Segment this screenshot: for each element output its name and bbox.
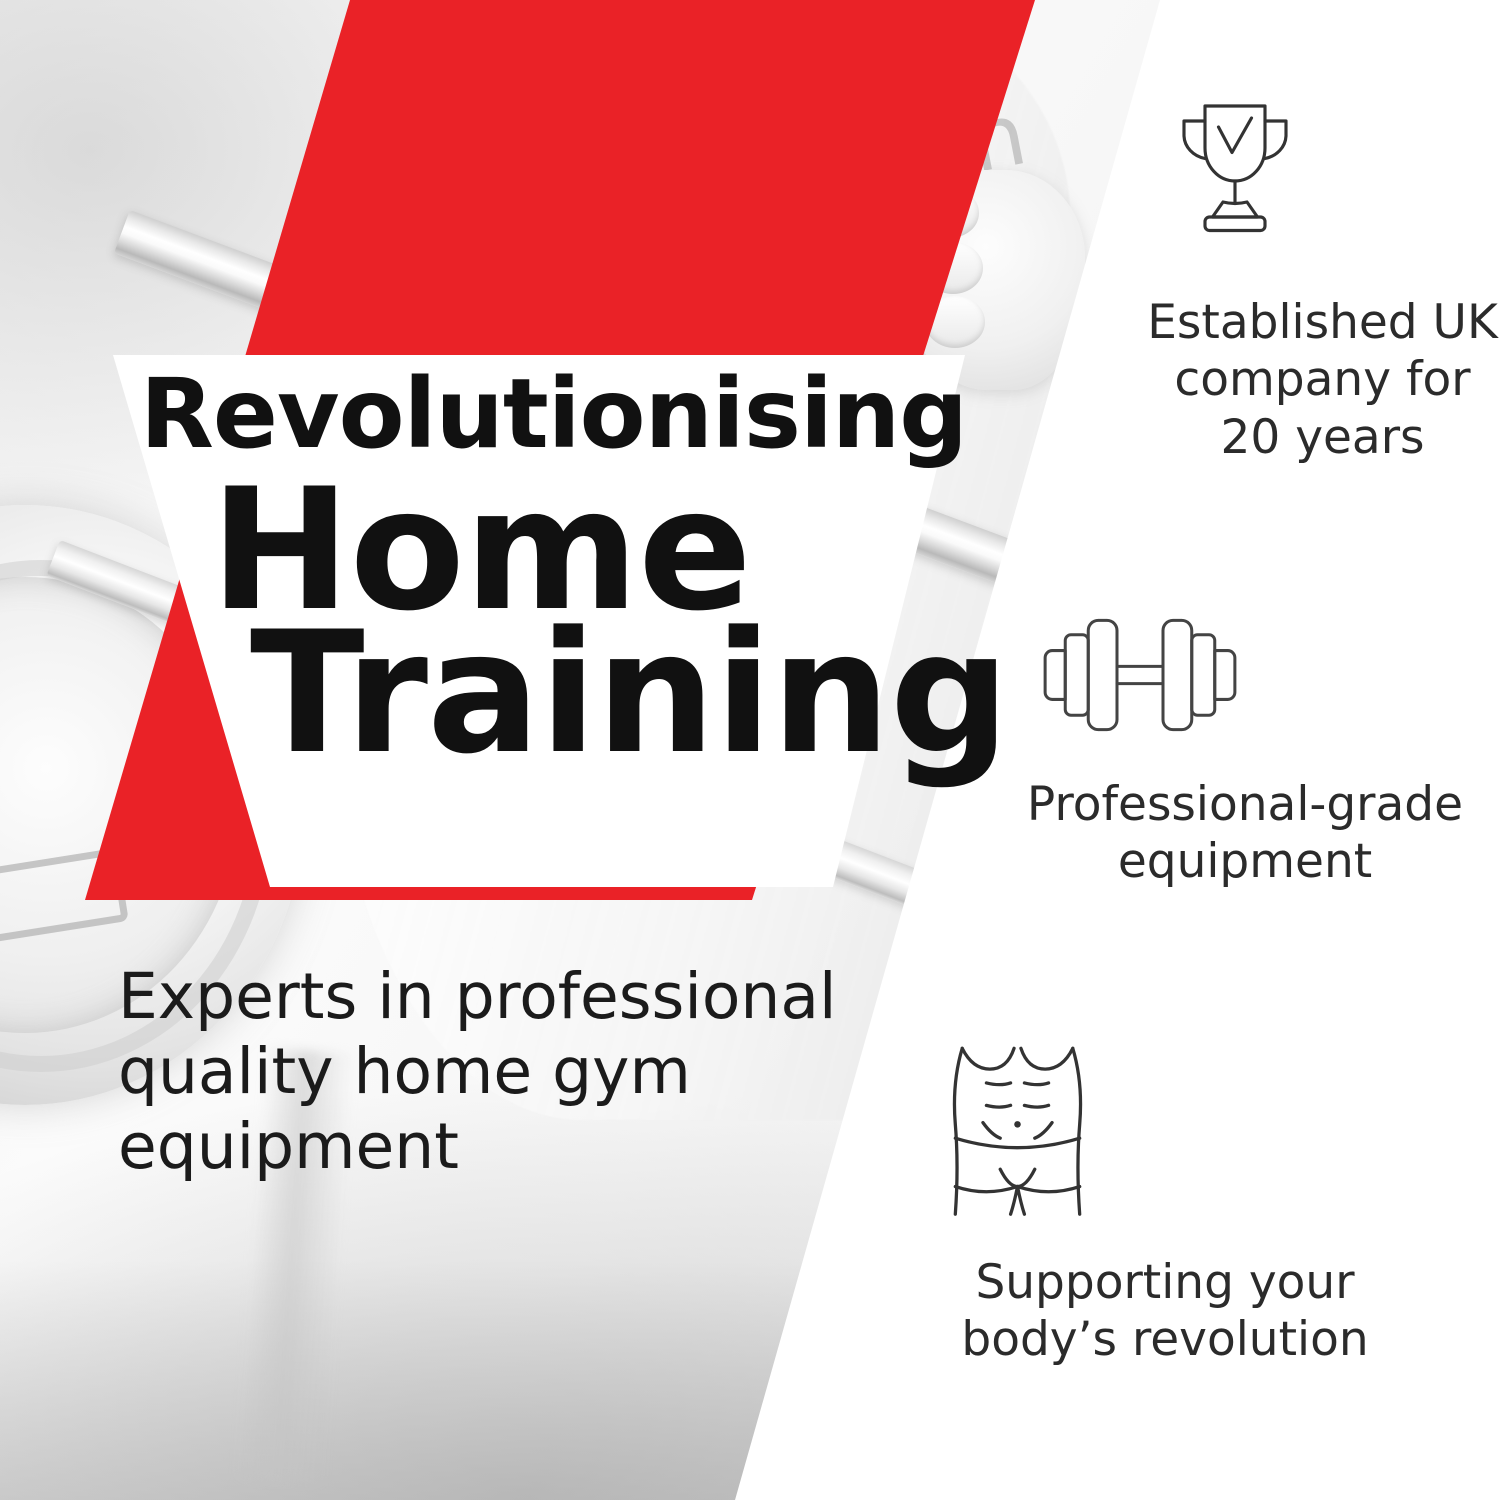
feature-caption-line-1: Established UK: [1145, 294, 1500, 351]
dumbbell-icon: [1025, 600, 1465, 750]
promotional-banner: body revolution Revolutionising Home Tra…: [0, 0, 1500, 1500]
feature-item-body: Supporting your body’s revolution: [930, 1038, 1400, 1369]
feature-caption-line-3: 20 years: [1145, 409, 1500, 466]
subheading-text: Experts in professional quality home gym…: [118, 960, 838, 1185]
feature-caption-line-2: body’s revolution: [930, 1311, 1400, 1368]
feature-caption-line-2: company for: [1145, 351, 1500, 408]
feature-item-equipment: Professional-grade equipment: [930, 600, 1465, 891]
headline-line-3: Training: [250, 613, 980, 774]
feature-list: Established UK company for 20 years Prof…: [930, 0, 1500, 1500]
feature-caption-line-1: Professional-grade: [1025, 776, 1465, 833]
headline-line-1: Revolutionising: [140, 368, 980, 460]
feature-caption-line-1: Supporting your: [930, 1254, 1400, 1311]
page-title: Revolutionising Home Training: [140, 368, 980, 775]
feature-item-established: Established UK company for 20 years: [930, 88, 1500, 466]
feature-caption-line-2: equipment: [1025, 833, 1465, 890]
trophy-check-icon: [1145, 88, 1500, 268]
torso-abs-icon: [930, 1038, 1400, 1228]
